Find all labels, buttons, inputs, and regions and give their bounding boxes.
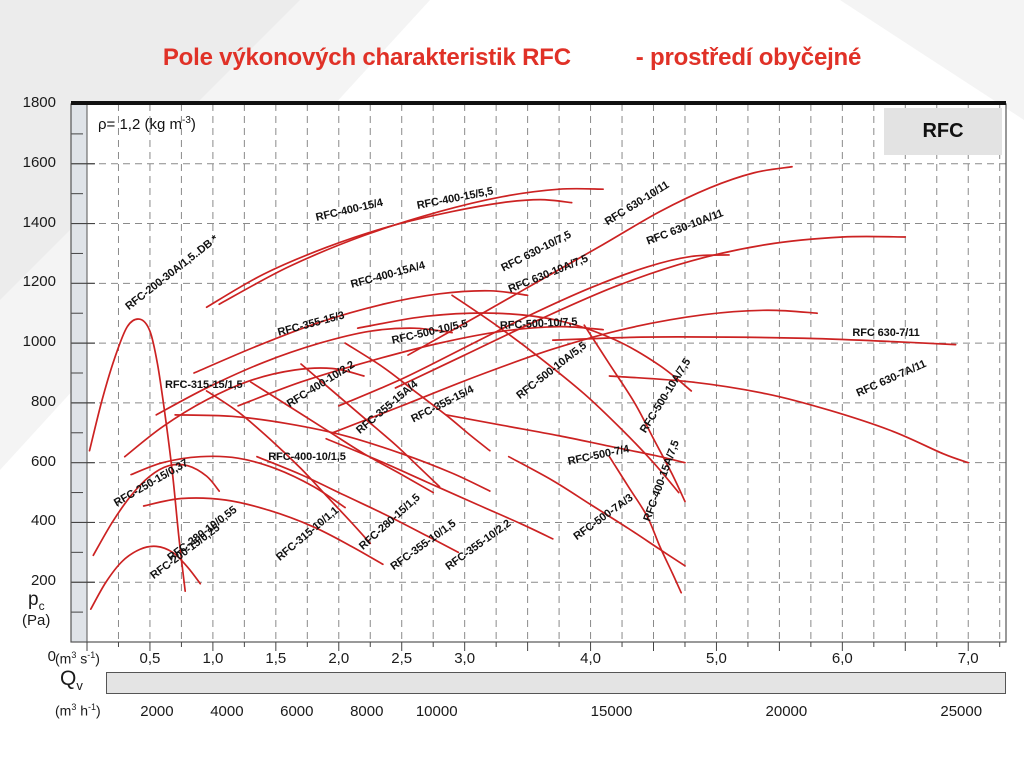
- x-unit-top: (m3 s-1): [55, 650, 100, 667]
- x-tick-label: 5,0: [676, 650, 756, 667]
- qv-tick-label: 10000: [387, 703, 487, 720]
- y-tick-label: 800: [0, 393, 56, 410]
- x-tick-label: 7,0: [928, 650, 1008, 667]
- qv-tick-label: 25000: [911, 703, 1011, 720]
- qv-tick-label: 15000: [562, 703, 662, 720]
- y-axis-unit: (Pa): [22, 612, 50, 629]
- curve-label: RFC-400-10/1,5: [268, 451, 345, 463]
- y-axis-title: pc: [28, 589, 45, 613]
- x-tick-label: 3,0: [425, 650, 505, 667]
- y-tick-label: 200: [0, 572, 56, 589]
- rfc-badge: RFC: [884, 108, 1002, 155]
- x-unit-bottom: (m3 h-1): [55, 702, 101, 719]
- y-tick-label: 1800: [0, 94, 56, 111]
- performance-chart: ρ= 1,2 (kg m-3) RFC pc (Pa) 0 Qv (m3 s-1…: [0, 0, 1024, 768]
- qv-tick-label: 20000: [736, 703, 836, 720]
- density-annotation: ρ= 1,2 (kg m-3): [98, 115, 196, 133]
- qv-axis-title: Qv: [60, 667, 83, 693]
- x-tick-label: 6,0: [802, 650, 882, 667]
- y-tick-label: 1600: [0, 154, 56, 171]
- y-tick-label: 1200: [0, 273, 56, 290]
- qv-scale-strip: [106, 672, 1006, 694]
- y-tick-zero: 0: [0, 648, 56, 665]
- y-tick-label: 600: [0, 453, 56, 470]
- curve-label: RFC-315-15/1,5: [165, 379, 242, 391]
- y-tick-label: 1000: [0, 333, 56, 350]
- x-tick-label: 4,0: [551, 650, 631, 667]
- y-tick-label: 1400: [0, 214, 56, 231]
- y-tick-label: 400: [0, 512, 56, 529]
- curve-label: RFC 630-7/11: [852, 327, 919, 339]
- rfc-badge-label: RFC: [922, 120, 963, 143]
